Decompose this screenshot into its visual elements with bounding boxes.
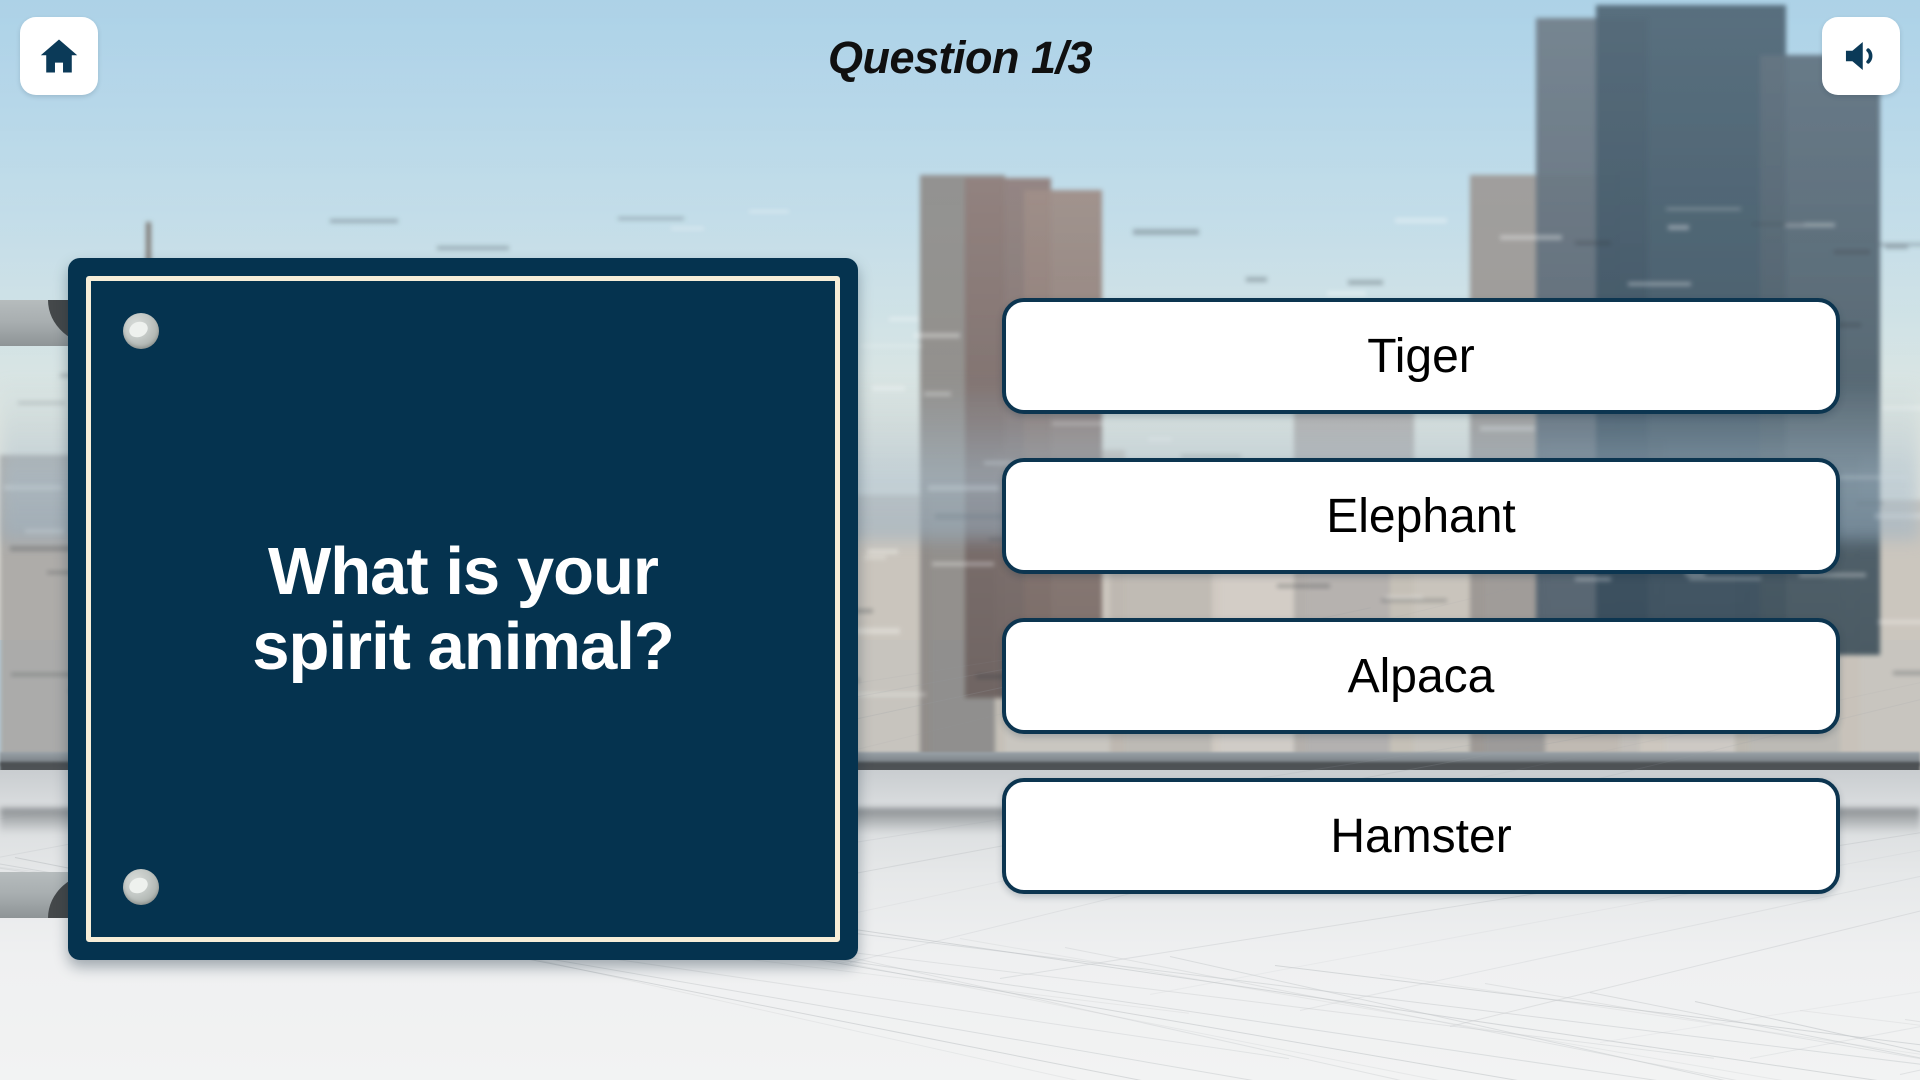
quiz-screen: Question 1/3 What is your spirit animal?… <box>0 0 1920 1080</box>
answer-option-3[interactable]: Alpaca <box>1002 618 1840 734</box>
question-text: What is your spirit animal? <box>218 534 708 684</box>
answer-options-list: Tiger Elephant Alpaca Hamster <box>1002 298 1840 894</box>
question-card-inner-frame: What is your spirit animal? <box>86 276 840 942</box>
answer-option-label: Hamster <box>1330 809 1511 864</box>
speaker-on-icon <box>1840 35 1882 77</box>
top-bar: Question 1/3 <box>0 0 1920 120</box>
answer-option-1[interactable]: Tiger <box>1002 298 1840 414</box>
answer-option-4[interactable]: Hamster <box>1002 778 1840 894</box>
answer-option-label: Tiger <box>1367 329 1475 384</box>
screw-icon-bottom-left <box>123 869 159 905</box>
sound-toggle-button[interactable] <box>1822 17 1900 95</box>
page-title: Question 1/3 <box>0 32 1920 84</box>
screw-icon-top-left <box>123 313 159 349</box>
answer-option-2[interactable]: Elephant <box>1002 458 1840 574</box>
answer-option-label: Alpaca <box>1348 649 1495 704</box>
question-card-body: What is your spirit animal? <box>68 258 858 960</box>
answer-option-label: Elephant <box>1326 489 1516 544</box>
question-card: What is your spirit animal? <box>68 258 858 960</box>
